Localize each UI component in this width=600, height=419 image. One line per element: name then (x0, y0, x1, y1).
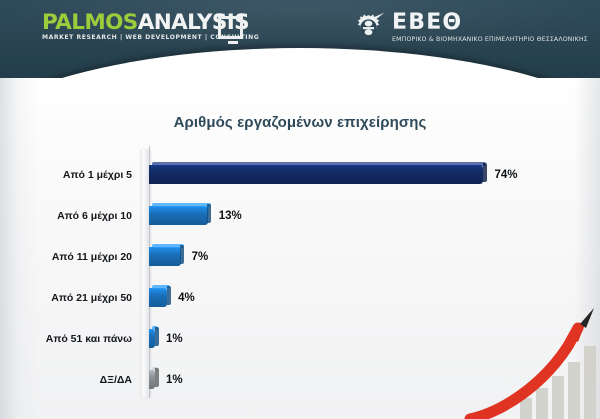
chart-row: Από 11 μέχρι 207% (0, 236, 600, 277)
bar (149, 206, 208, 225)
bar-side-facet (180, 245, 184, 264)
bar-side-facet (207, 204, 211, 223)
bar-chart-plot: Από 1 μέχρι 574%Από 6 μέχρι 1013%Από 11 … (0, 150, 600, 412)
chart-title: Αριθμός εργαζομένων επιχείρησης (0, 114, 600, 131)
monitor-icon (218, 16, 243, 39)
bar-container (149, 236, 181, 277)
bar-side-facet (155, 327, 159, 346)
bar-value-label: 74% (494, 154, 517, 195)
bar-container (149, 277, 167, 318)
bar-value-label: 7% (192, 236, 209, 277)
chart-row: Από 6 μέχρι 1013% (0, 195, 600, 236)
bar-top-facet (152, 162, 486, 166)
bar-container (149, 359, 155, 400)
gear-icon (350, 9, 388, 47)
category-label: Από 6 μέχρι 10 (0, 195, 132, 236)
bar-top-facet (152, 244, 184, 248)
category-label: Από 1 μέχρι 5 (0, 154, 132, 195)
chart-row: Από 51 και πάνω1% (0, 318, 600, 359)
bar (149, 288, 167, 307)
bar (149, 247, 181, 266)
bar-value-label: 1% (166, 359, 183, 400)
category-label: Από 51 και πάνω (0, 318, 132, 359)
bar-value-label: 4% (178, 277, 195, 318)
bar-container (149, 195, 208, 236)
category-label: ΔΞ/ΔΑ (0, 359, 132, 400)
palmos-logo-tagline: MARKET RESEARCH | WEB DEVELOPMENT | CONS… (42, 34, 237, 41)
bar-container (149, 154, 483, 195)
category-label: Από 21 μέχρι 50 (0, 277, 132, 318)
bar-face (149, 165, 483, 184)
ebeth-logo-text: ΕΒΕΘ ΕΜΠΟΡΙΚΟ & ΒΙΟΜΗΧΑΝΙΚΟ ΕΠΙΜΕΛΗΤΗΡΙΟ… (392, 12, 588, 43)
palmos-analysis-logo: PALMOSANALYSIS MARKET RESEARCH | WEB DEV… (42, 12, 237, 46)
bar (149, 165, 483, 184)
chart-row: Από 21 μέχρι 504% (0, 277, 600, 318)
bar-top-facet (152, 203, 211, 207)
ebeth-logo-title: ΕΒΕΘ (392, 12, 588, 33)
bar-value-label: 1% (166, 318, 183, 359)
bar-face (149, 288, 167, 307)
bar (149, 370, 155, 389)
bar-face (149, 247, 181, 266)
bar-container (149, 318, 155, 359)
ebeth-logo-subtitle: ΕΜΠΟΡΙΚΟ & ΒΙΟΜΗΧΑΝΙΚΟ ΕΠΙΜΕΛΗΤΗΡΙΟ ΘΕΣΣ… (392, 36, 588, 43)
bar-side-facet (167, 286, 171, 305)
category-label: Από 11 μέχρι 20 (0, 236, 132, 277)
palmos-logo-word1: PALMOS (42, 10, 138, 35)
bar-value-label: 13% (219, 195, 242, 236)
chart-row: ΔΞ/ΔΑ1% (0, 359, 600, 400)
bar-side-facet (483, 163, 487, 182)
bar-face (149, 206, 208, 225)
bar-side-facet (155, 368, 159, 387)
bar (149, 329, 155, 348)
slide: PALMOSANALYSIS MARKET RESEARCH | WEB DEV… (0, 0, 600, 419)
chart-row: Από 1 μέχρι 574% (0, 154, 600, 195)
palmos-logo-wordmark: PALMOSANALYSIS (42, 12, 237, 33)
